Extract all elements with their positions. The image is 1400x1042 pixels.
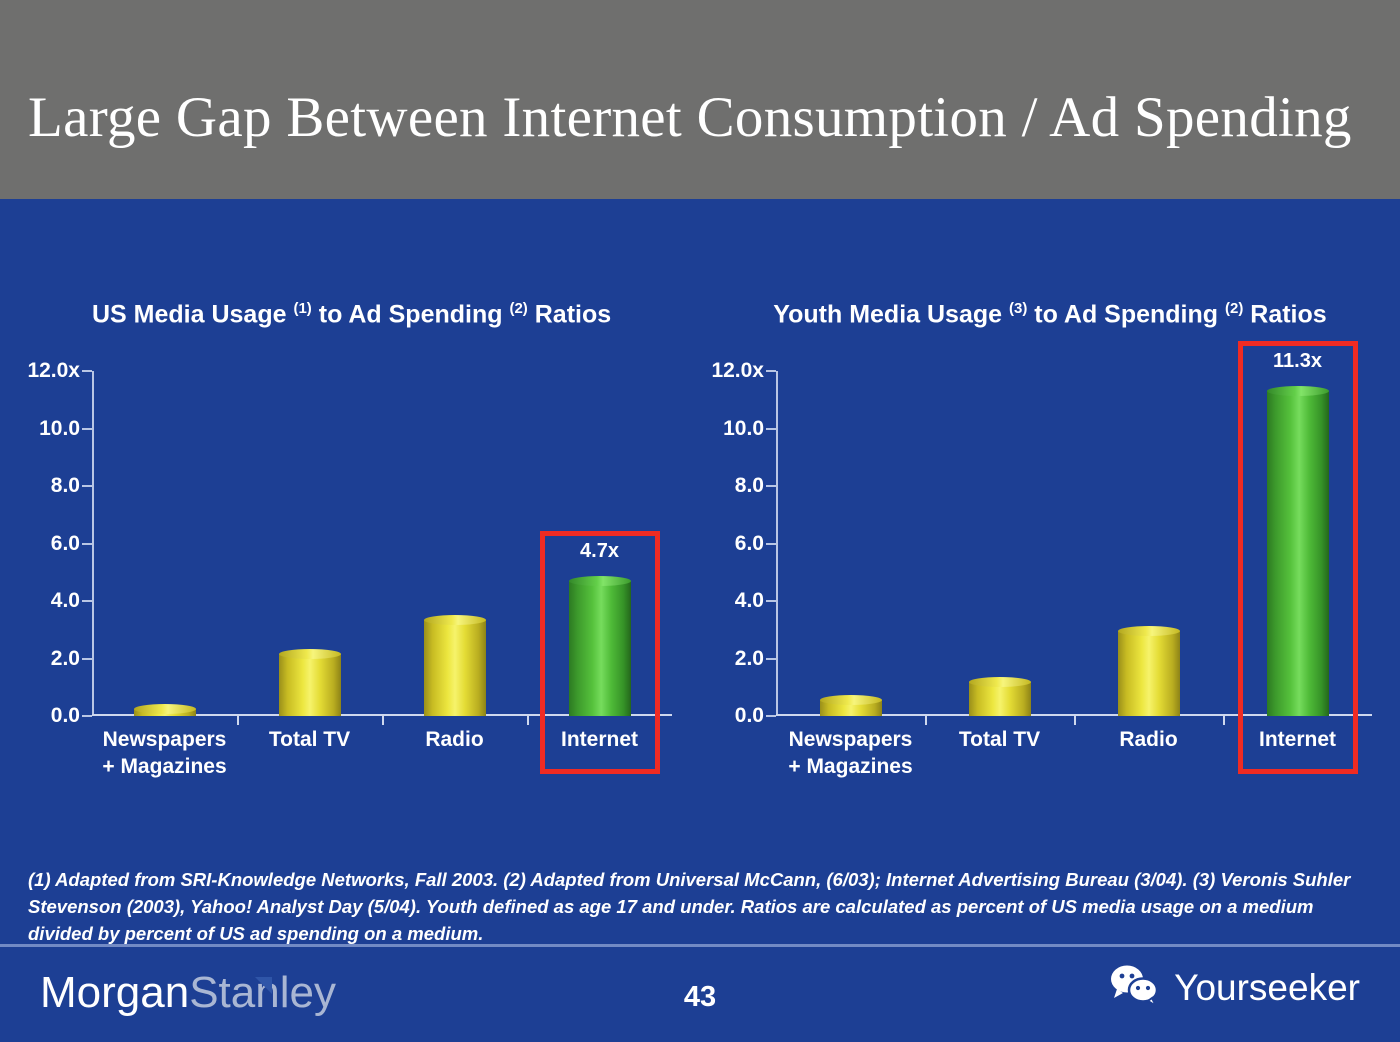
footnote-ref-3: (3) — [1009, 300, 1027, 317]
chart-title-text-c: Ratios — [528, 300, 611, 328]
x-axis-category-label: Total TV — [925, 726, 1074, 753]
y-axis-tick-label: 10.0 — [39, 417, 80, 441]
y-axis-tick — [82, 600, 92, 602]
footnote-text: (1) Adapted from SRI-Knowledge Networks,… — [28, 866, 1368, 947]
footnote-ref-2: (2) — [509, 300, 527, 317]
y-axis-tick — [766, 485, 776, 487]
y-axis-tick-label: 6.0 — [51, 532, 80, 556]
bar-radio — [1118, 631, 1180, 716]
y-axis-tick — [82, 715, 92, 717]
bar-value-label: 4.7x — [580, 540, 619, 563]
y-axis-tick — [766, 715, 776, 717]
bar-body — [969, 682, 1031, 717]
y-axis-tick-label: 2.0 — [51, 647, 80, 671]
plot-area-youth-media-usage: 0.02.04.06.08.010.012.0xNewspapers+ Maga… — [776, 371, 1372, 716]
y-axis-tick-label: 4.0 — [51, 589, 80, 613]
x-axis-category-label: Internet — [527, 726, 672, 753]
bar-body — [424, 620, 486, 716]
category-label-line: Total TV — [237, 726, 382, 753]
category-label-line: Radio — [382, 726, 527, 753]
bar-value-label: 11.3x — [1273, 350, 1322, 373]
x-axis-tick — [237, 716, 239, 725]
chart-title-text-a: Youth Media Usage — [773, 300, 1009, 328]
chart-title-text-b: to Ad Spending — [1027, 300, 1225, 328]
category-label-line: Internet — [527, 726, 672, 753]
bar-total-tv — [969, 682, 1031, 717]
y-axis-tick-label: 8.0 — [735, 474, 764, 498]
x-axis-category-label: Internet — [1223, 726, 1372, 753]
chart-title-youth-media-usage: Youth Media Usage (3) to Ad Spending (2)… — [700, 291, 1400, 332]
bar-top-ellipse — [1267, 386, 1329, 396]
y-axis-tick-label: 8.0 — [51, 474, 80, 498]
wechat-icon — [1108, 963, 1162, 1012]
y-axis-tick — [766, 370, 776, 372]
y-axis-tick-label: 6.0 — [735, 532, 764, 556]
category-label-line: Newspapers — [92, 726, 237, 753]
charts-container: US Media Usage (1) to Ad Spending (2) Ra… — [0, 199, 1400, 844]
category-label-line: Total TV — [925, 726, 1074, 753]
y-axis-tick — [766, 428, 776, 430]
category-label-line: + Magazines — [776, 753, 925, 780]
y-axis-tick-label: 0.0 — [51, 704, 80, 728]
y-axis-tick — [766, 600, 776, 602]
bar-body — [1118, 631, 1180, 716]
y-axis-tick-label: 0.0 — [735, 704, 764, 728]
y-axis-tick — [82, 658, 92, 660]
y-axis-line — [92, 371, 94, 716]
bar-top-ellipse — [969, 677, 1031, 687]
x-axis-tick — [1074, 716, 1076, 725]
slide-canvas: Large Gap Between Internet Consumption /… — [0, 0, 1400, 1042]
slide-footer: MorganStanley 43 Yourseeker — [0, 947, 1400, 1042]
x-axis-tick — [382, 716, 384, 725]
x-axis-category-label: Newspapers+ Magazines — [776, 726, 925, 780]
page-title: Large Gap Between Internet Consumption /… — [28, 86, 1352, 150]
y-axis-tick-label: 10.0 — [723, 417, 764, 441]
watermark-label: Yourseeker — [1174, 966, 1360, 1010]
y-axis-tick-label: 2.0 — [735, 647, 764, 671]
bar-body — [569, 581, 631, 716]
y-axis-tick-label: 12.0x — [27, 359, 80, 383]
x-axis-category-label: Total TV — [237, 726, 382, 753]
x-axis-category-label: Radio — [382, 726, 527, 753]
bar-newspapers-magazines — [820, 700, 882, 716]
x-axis-tick — [527, 716, 529, 725]
y-axis-tick — [82, 370, 92, 372]
x-axis-category-label: Newspapers+ Magazines — [92, 726, 237, 780]
y-axis-line — [776, 371, 778, 716]
chart-title-text-b: to Ad Spending — [312, 300, 510, 328]
category-label-line: Newspapers — [776, 726, 925, 753]
y-axis-tick-label: 4.0 — [735, 589, 764, 613]
y-axis-tick — [82, 543, 92, 545]
chart-panel-youth-media-usage: Youth Media Usage (3) to Ad Spending (2)… — [700, 199, 1400, 844]
category-label-line: Internet — [1223, 726, 1372, 753]
bar-internet — [569, 581, 631, 716]
bar-top-ellipse — [134, 704, 196, 714]
y-axis-tick — [82, 485, 92, 487]
bar-radio — [424, 620, 486, 716]
footnote-ref-2: (2) — [1225, 300, 1243, 317]
footnote-ref-1: (1) — [293, 300, 311, 317]
chart-title-text-a: US Media Usage — [92, 300, 293, 328]
bar-body — [279, 654, 341, 716]
x-axis-category-label: Radio — [1074, 726, 1223, 753]
chart-title-text-c: Ratios — [1243, 300, 1326, 328]
bar-body — [1267, 391, 1329, 716]
x-axis-tick — [1223, 716, 1225, 725]
y-axis-tick — [766, 658, 776, 660]
chart-title-us-media-usage: US Media Usage (1) to Ad Spending (2) Ra… — [0, 291, 700, 332]
x-axis-tick — [925, 716, 927, 725]
chart-panel-us-media-usage: US Media Usage (1) to Ad Spending (2) Ra… — [0, 199, 700, 844]
plot-area-us-media-usage: 0.02.04.06.08.010.012.0xNewspapers+ Maga… — [92, 371, 672, 716]
y-axis-tick — [82, 428, 92, 430]
bar-top-ellipse — [569, 576, 631, 586]
category-label-line: Radio — [1074, 726, 1223, 753]
bar-newspapers-magazines — [134, 709, 196, 716]
bar-top-ellipse — [424, 615, 486, 625]
y-axis-tick — [766, 543, 776, 545]
y-axis-tick-label: 12.0x — [711, 359, 764, 383]
bar-total-tv — [279, 654, 341, 716]
watermark: Yourseeker — [1108, 963, 1360, 1012]
bar-internet — [1267, 391, 1329, 716]
category-label-line: + Magazines — [92, 753, 237, 780]
